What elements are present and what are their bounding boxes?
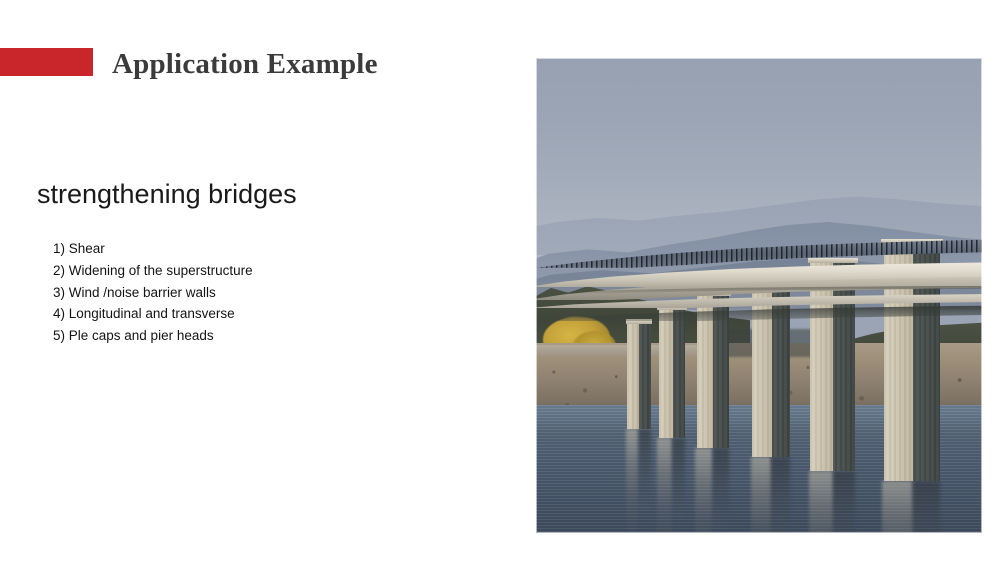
pier-reflection-shadow bbox=[912, 481, 940, 533]
list-item: 1) Shear bbox=[53, 238, 253, 260]
application-list: 1) Shear 2) Widening of the superstructu… bbox=[53, 238, 253, 347]
title-accent-bar bbox=[0, 48, 93, 76]
railing-posts bbox=[536, 239, 982, 268]
section-heading: strengthening bridges bbox=[37, 178, 297, 211]
pier-reflection-shadow bbox=[639, 429, 651, 509]
pier-reflection bbox=[882, 481, 913, 533]
pier-reflection bbox=[809, 471, 834, 533]
pier-reflection-shadow bbox=[771, 457, 790, 533]
list-item: 3) Wind /noise barrier walls bbox=[53, 282, 253, 304]
pier-reflection bbox=[695, 448, 713, 534]
bridge-photo bbox=[536, 58, 982, 533]
pier-reflection-shadow bbox=[713, 448, 729, 528]
pier-reflection bbox=[657, 438, 672, 533]
slide: Application Example strengthening bridge… bbox=[0, 0, 1000, 562]
list-item: 2) Widening of the superstructure bbox=[53, 260, 253, 282]
pier-reflection bbox=[626, 429, 639, 529]
pier-reflection-shadow bbox=[833, 471, 855, 533]
bridge-deck bbox=[536, 229, 982, 391]
list-item: 4) Longitudinal and transverse bbox=[53, 303, 253, 325]
bridge-photo-scene bbox=[536, 58, 982, 533]
pier-reflection bbox=[751, 457, 772, 533]
list-item: 5) Ple caps and pier heads bbox=[53, 325, 253, 347]
pier-reflection-shadow bbox=[672, 438, 685, 518]
page-title: Application Example bbox=[112, 47, 378, 81]
